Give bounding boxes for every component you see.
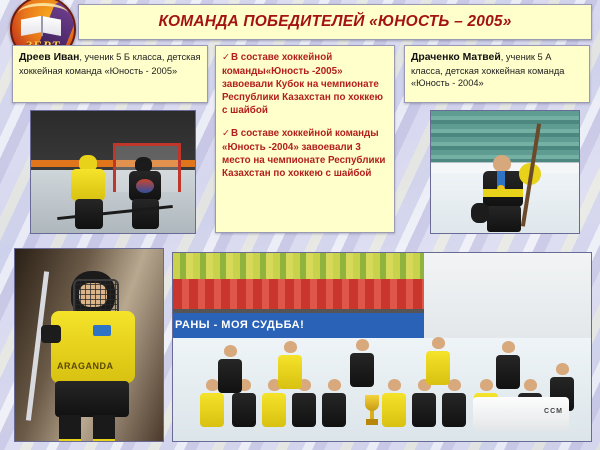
player-pants <box>487 206 521 232</box>
team-player <box>441 379 467 427</box>
player-head <box>135 157 152 172</box>
flag-patch <box>93 325 111 336</box>
yellow-jersey <box>51 311 135 383</box>
student-card-left: Дреев Иван, ученик 5 Б класса, детская х… <box>12 45 208 103</box>
presentation-slide: ЗЕРТ КОМАНДА ПОБЕДИТЕЛЕЙ «ЮНОСТЬ – 2005»… <box>0 0 600 450</box>
student-right-name: Драченко Матвей <box>411 52 501 63</box>
glove <box>41 325 61 343</box>
student-left-name: Дреев Иван <box>19 52 79 63</box>
arena-banner: РАНЫ - МОЯ СУДЬБА! <box>173 313 424 337</box>
student-card-right: Драченко Матвей, ученик 5 А класса, детс… <box>404 45 590 103</box>
book-spine <box>41 16 43 36</box>
jersey-wordmark: ARAGANDA <box>57 361 114 371</box>
photo-boy-in-jersey: ARAGANDA <box>14 248 164 442</box>
red-seats <box>173 279 432 309</box>
photo-player-with-medal <box>430 110 580 234</box>
championship-trophy <box>365 395 379 425</box>
achievement-text: В составе хоккейной команды«Юность -2005… <box>222 52 383 116</box>
achievement-item: ✓В составе хоккейной команды «Юность -20… <box>222 127 388 180</box>
title-banner: КОМАНДА ПОБЕДИТЕЛЕЙ «ЮНОСТЬ – 2005» <box>78 4 592 40</box>
page-title: КОМАНДА ПОБЕДИТЕЛЕЙ «ЮНОСТЬ – 2005» <box>158 13 511 31</box>
player-head <box>493 155 511 172</box>
team-player-back-row <box>425 337 451 385</box>
achievement-text: В составе хоккейной команды «Юность -200… <box>222 128 385 179</box>
team-player-back-row <box>217 345 243 393</box>
jersey-stripe <box>483 189 523 197</box>
player-yellow-jersey <box>71 169 105 201</box>
student-left-line: Дреев Иван, ученик 5 Б класса, детская х… <box>19 51 201 77</box>
banner-text: РАНЫ - МОЯ СУДЬБА! <box>173 319 304 331</box>
team-player <box>381 379 407 427</box>
leg-right <box>93 415 115 442</box>
pad-brand-text: CCM <box>544 408 563 415</box>
team-player-back-row <box>495 341 521 389</box>
leg-left <box>59 415 81 442</box>
check-icon: ✓ <box>222 52 230 63</box>
team-player <box>411 379 437 427</box>
student-right-line: Драченко Матвей, ученик 5 А класса, детс… <box>411 51 583 89</box>
team-player-back-row <box>349 339 375 387</box>
photo-team-celebration: РАНЫ - МОЯ СУДЬБА! CCM <box>172 252 592 442</box>
photo-hockey-game <box>30 110 196 234</box>
team-player <box>321 379 347 427</box>
gloves <box>136 179 154 193</box>
achievement-item: ✓В составе хоккейной команды«Юность -200… <box>222 51 388 117</box>
team-player-back-row <box>277 341 303 389</box>
helmet-held <box>471 203 489 223</box>
achievements-card: ✓В составе хоккейной команды«Юность -200… <box>215 45 395 233</box>
player-black-legs <box>132 199 159 229</box>
hockey-pants <box>55 381 129 417</box>
check-icon: ✓ <box>222 128 230 139</box>
goalie-leg-pads: CCM <box>473 397 569 431</box>
